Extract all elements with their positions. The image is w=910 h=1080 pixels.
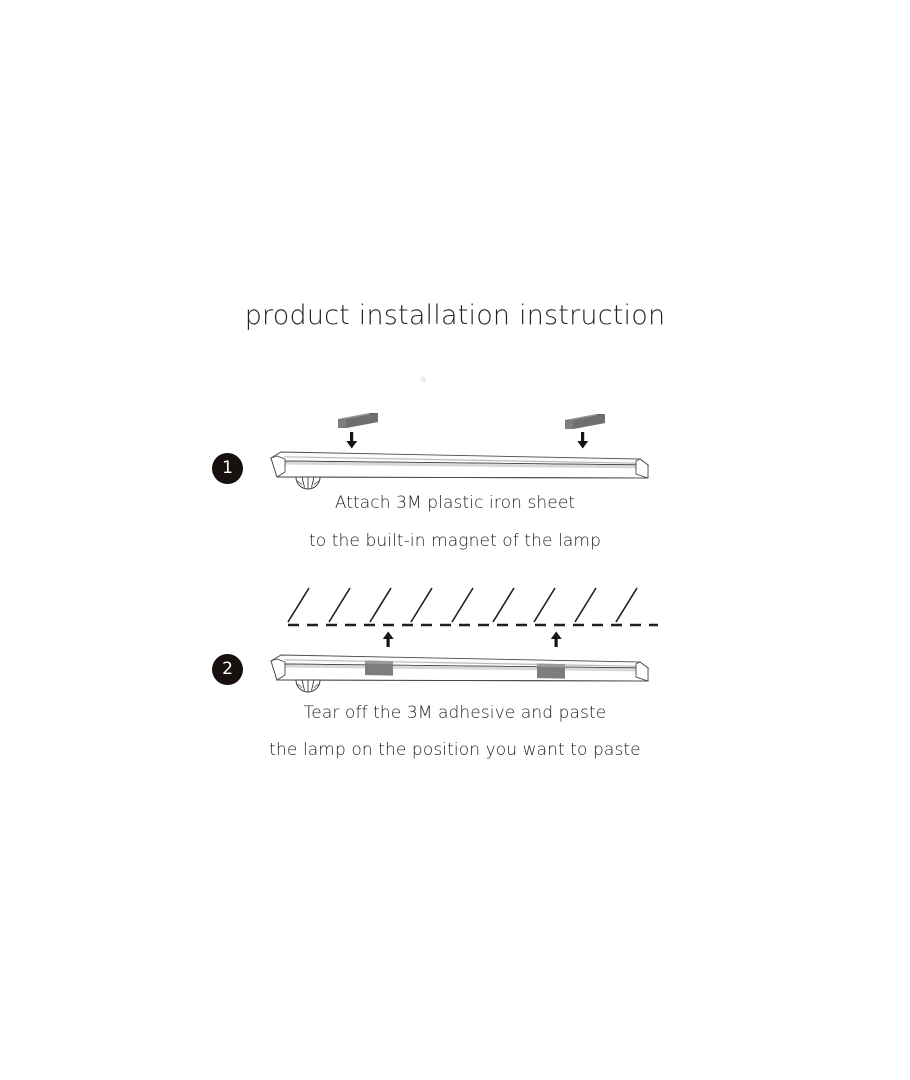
step-badge-1: 1	[212, 453, 243, 484]
page-title: product installation instruction	[0, 300, 910, 331]
adhesive-pad-right	[537, 664, 565, 679]
lamp-bar-step-2	[271, 655, 648, 692]
up-arrow-right	[551, 632, 562, 648]
iron-sheet-left	[338, 413, 378, 428]
sensor-grille-icon	[296, 477, 320, 489]
sensor-grille-icon	[296, 680, 320, 692]
print-speck-artifact	[421, 377, 426, 382]
instruction-sheet: product installation instruction 1	[0, 0, 910, 1080]
step-1-caption-line-2: to the built-in magnet of the lamp	[0, 531, 910, 551]
step-badge-2: 2	[212, 654, 243, 685]
iron-sheet-right	[565, 414, 605, 429]
lamp-bar-step-1	[271, 452, 648, 489]
up-arrow-left	[383, 632, 394, 648]
down-arrow-right	[577, 432, 588, 449]
mounting-surface-hatching	[288, 588, 637, 622]
step-2-caption-line-1: Tear off the 3M adhesive and paste	[0, 703, 910, 723]
adhesive-pad-left	[365, 661, 393, 676]
step-1-caption-line-1: Attach 3M plastic iron sheet	[0, 493, 910, 513]
step-2-caption-line-2: the lamp on the position you want to pas…	[0, 740, 910, 760]
down-arrow-left	[346, 432, 357, 449]
